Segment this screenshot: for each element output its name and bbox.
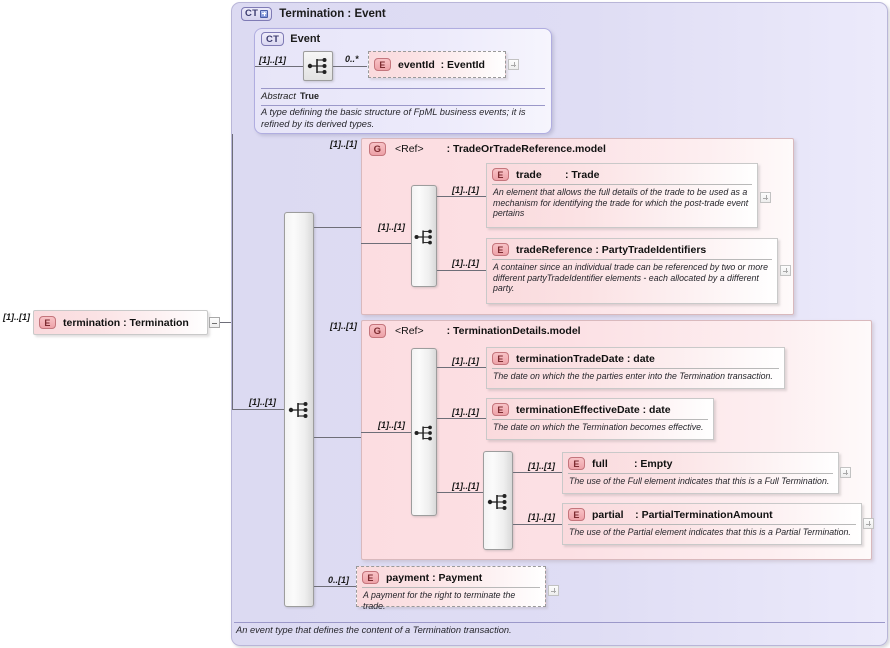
connector-container-to-seq <box>232 409 284 410</box>
element-termination-trade-date-documentation: The date on which the the parties enter … <box>487 369 784 382</box>
container-annotation: An event type that defines the content o… <box>236 625 512 635</box>
traderef-multiplicity: [1]..[1] <box>452 258 479 268</box>
element-termination-effective-date-head: E terminationEffectiveDate : date <box>487 399 713 417</box>
element-full[interactable]: E full : Empty The use of the Full eleme… <box>562 452 839 494</box>
connector-group2-to-effectivedate <box>437 418 486 419</box>
full-multiplicity: [1]..[1] <box>528 461 555 471</box>
termination-minus-expander-icon[interactable] <box>209 317 220 328</box>
sequence-glyph-icon <box>411 223 437 251</box>
group1-ref-label: <Ref> <box>395 143 424 155</box>
termination-effective-date-multiplicity: [1]..[1] <box>452 407 479 417</box>
sequence-glyph-icon <box>411 419 437 447</box>
group1-sequence-bar[interactable] <box>411 185 437 287</box>
sequence-glyph-icon <box>304 52 332 80</box>
main-sequence-bar[interactable] <box>284 212 314 607</box>
element-termination-label: termination : Termination <box>63 317 189 329</box>
group-badge-icon[interactable]: G <box>369 324 386 338</box>
element-payment-documentation: A payment for the right to terminate the… <box>357 588 545 611</box>
group2-name: : TerminationDetails.model <box>447 325 581 337</box>
abstract-facet-label: Abstract <box>261 91 296 102</box>
base-complextype-badge-icon[interactable]: CT <box>261 32 284 46</box>
element-type-badge-icon: E <box>568 508 585 521</box>
group2-header: G <Ref> : TerminationDetails.model <box>361 320 581 338</box>
main-sequence-multiplicity: [1]..[1] <box>249 397 276 407</box>
group2-ref-label: <Ref> <box>395 325 424 337</box>
element-full-documentation: The use of the Full element indicates th… <box>563 474 838 487</box>
connector-group2-to-choice <box>437 492 483 493</box>
connector-choice-to-full <box>513 472 562 473</box>
event-sequence-multiplicity: [1]..[1] <box>259 55 286 65</box>
group-badge-icon[interactable]: G <box>369 142 386 156</box>
element-termination-trade-date[interactable]: E terminationTradeDate : date The date o… <box>486 347 785 389</box>
sequence-glyph-icon <box>484 488 512 516</box>
element-payment-head: E payment : Payment <box>357 567 545 585</box>
connector-choice-to-partial <box>513 524 562 525</box>
element-traderef-head: E tradeReference : PartyTradeIdentifiers <box>487 239 777 257</box>
element-termination-trade-date-label: terminationTradeDate : date <box>516 353 655 365</box>
trade-reference-plus-expander-icon[interactable] <box>780 265 791 276</box>
connector-group1-left <box>361 243 411 244</box>
element-partial-label: partial : PartialTerminationAmount <box>592 509 773 521</box>
event-divider <box>261 88 545 89</box>
element-type-badge-icon: E <box>492 352 509 365</box>
element-termination-trade-date-head: E terminationTradeDate : date <box>487 348 784 366</box>
base-complextype-title: Event <box>290 33 320 45</box>
trade-multiplicity: [1]..[1] <box>452 185 479 195</box>
element-termination-effective-date[interactable]: E terminationEffectiveDate : date The da… <box>486 398 714 440</box>
choice-bar[interactable] <box>483 451 513 550</box>
element-type-badge-icon: E <box>492 168 509 181</box>
partial-multiplicity: [1]..[1] <box>528 512 555 522</box>
element-payment[interactable]: E payment : Payment A payment for the ri… <box>356 566 546 607</box>
element-type-badge-icon: E <box>568 457 585 470</box>
group2-multiplicity: [1]..[1] <box>330 321 357 331</box>
element-termination-effective-date-documentation: The date on which the Termination become… <box>487 420 713 433</box>
container-annotation-divider <box>234 622 885 623</box>
termination-trade-date-multiplicity: [1]..[1] <box>452 356 479 366</box>
element-full-head: E full : Empty <box>563 453 838 471</box>
group1-name: : TradeOrTradeReference.model <box>447 143 606 155</box>
group1-header: G <Ref> : TradeOrTradeReference.model <box>361 138 606 156</box>
connector-group2-left <box>361 432 411 433</box>
eventid-plus-expander-icon[interactable] <box>508 59 519 70</box>
element-full-label: full : Empty <box>592 458 673 470</box>
ct-badge-label: CT <box>245 8 258 19</box>
element-type-badge-icon: E <box>39 316 56 329</box>
payment-multiplicity: 0..[1] <box>328 575 349 585</box>
group2-sequence-bar[interactable] <box>411 348 437 516</box>
element-trade[interactable]: E trade : Trade An element that allows t… <box>486 163 758 228</box>
abstract-facet-value: True <box>300 91 319 101</box>
connector-group2-to-tradedate <box>437 367 486 368</box>
connector-container-spine <box>232 134 233 409</box>
event-divider-2 <box>261 105 545 106</box>
element-partial[interactable]: E partial : PartialTerminationAmount The… <box>562 503 862 545</box>
partial-plus-expander-icon[interactable] <box>863 518 874 529</box>
connector-event-to-eventid <box>333 66 367 67</box>
connector-seq-to-payment <box>314 586 356 587</box>
element-eventid-label: eventId : EventId <box>398 59 485 71</box>
base-complextype-header: CT Event <box>261 31 320 47</box>
element-partial-head: E partial : PartialTerminationAmount <box>563 504 861 522</box>
payment-plus-expander-icon[interactable] <box>548 585 559 596</box>
group1-sequence-multiplicity: [1]..[1] <box>378 222 405 232</box>
full-plus-expander-icon[interactable] <box>840 467 851 478</box>
connector-event-left <box>255 66 303 67</box>
element-termination[interactable]: E termination : Termination <box>33 310 208 335</box>
element-termination-effective-date-label: terminationEffectiveDate : date <box>516 404 671 416</box>
element-trade-reference[interactable]: E tradeReference : PartyTradeIdentifiers… <box>486 238 778 304</box>
element-type-badge-icon: E <box>492 243 509 256</box>
root-element-multiplicity: [1]..[1] <box>3 312 30 322</box>
element-trade-head: E trade : Trade <box>487 164 757 182</box>
group1-multiplicity: [1]..[1] <box>330 139 357 149</box>
element-payment-label: payment : Payment <box>386 572 482 584</box>
complextype-header: CT Termination : Event <box>241 5 386 22</box>
connector-seq-to-group1 <box>314 227 362 228</box>
sequence-icon[interactable] <box>303 51 333 81</box>
choice-multiplicity: [1]..[1] <box>452 481 479 491</box>
trade-plus-expander-icon[interactable] <box>760 192 771 203</box>
connector-seq-to-group2 <box>314 437 362 438</box>
event-documentation: A type defining the basic structure of F… <box>261 107 549 130</box>
complextype-badge-icon[interactable]: CT <box>241 7 272 21</box>
element-trade-reference-documentation: A container since an individual trade ca… <box>487 260 777 294</box>
element-type-badge-icon: E <box>374 58 391 71</box>
connector-group1-to-traderef <box>437 270 486 271</box>
element-trade-documentation: An element that allows the full details … <box>487 185 757 219</box>
complextype-title: Termination : Event <box>279 8 386 20</box>
element-type-badge-icon: E <box>492 403 509 416</box>
element-trade-label: trade : Trade <box>516 169 599 181</box>
element-eventid[interactable]: E eventId : EventId <box>368 51 506 78</box>
group2-sequence-multiplicity: [1]..[1] <box>378 420 405 430</box>
plus-icon <box>260 10 268 18</box>
connector-group1-to-trade <box>437 196 486 197</box>
element-type-badge-icon: E <box>362 571 379 584</box>
element-partial-documentation: The use of the Partial element indicates… <box>563 525 861 538</box>
eventid-multiplicity: 0..* <box>345 54 359 64</box>
sequence-glyph-icon <box>285 396 313 424</box>
element-trade-reference-label: tradeReference : PartyTradeIdentifiers <box>516 244 706 256</box>
